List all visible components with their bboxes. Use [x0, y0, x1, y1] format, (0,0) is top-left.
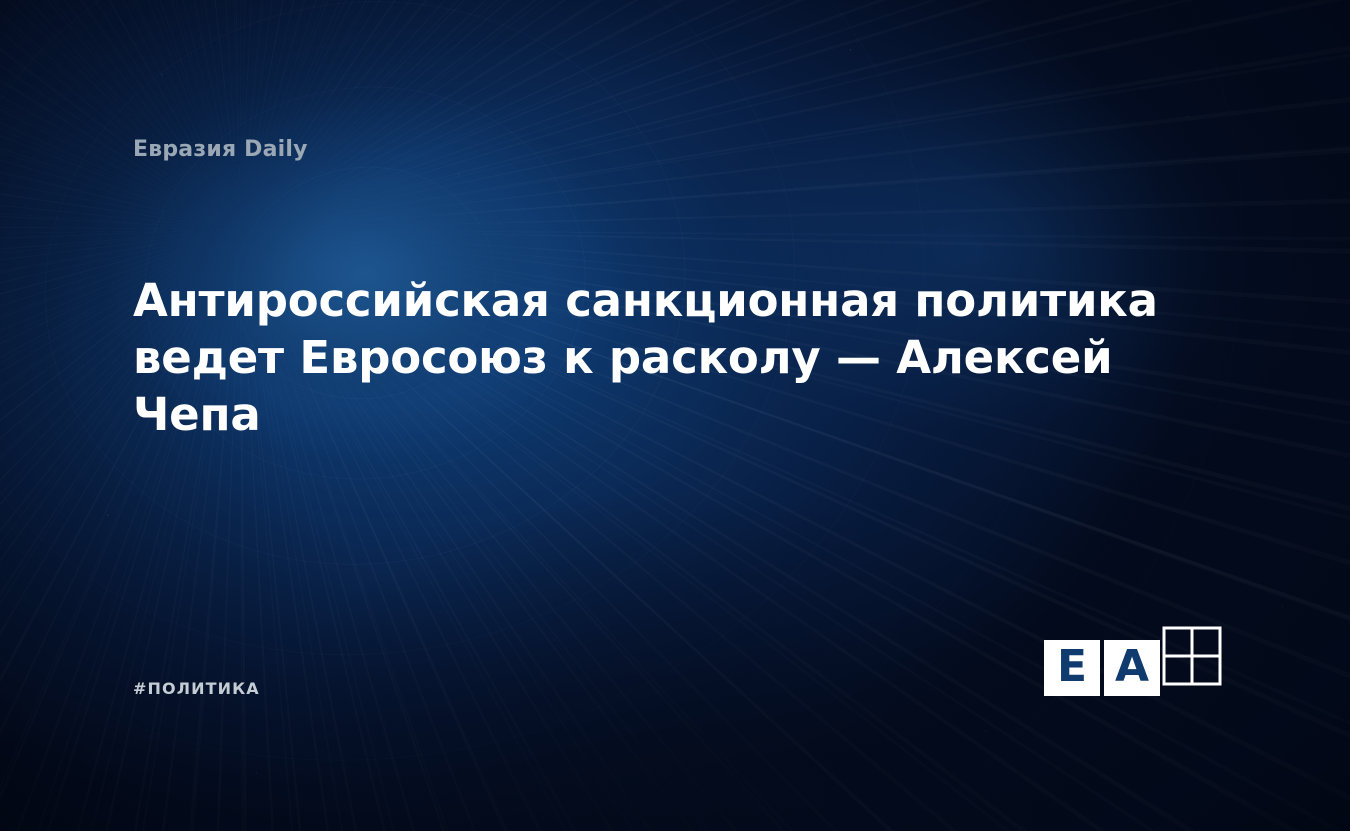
card-content: Евразия Daily Антироссийская санкционная…	[0, 0, 1350, 831]
ead-logo: E A D	[1042, 626, 1222, 704]
headline-title: Антироссийская санкционная политика веде…	[133, 272, 1223, 443]
category-tag: #ПОЛИТИКА	[133, 679, 260, 698]
news-cover-card: Евразия Daily Антироссийская санкционная…	[0, 0, 1350, 831]
svg-text:E: E	[1057, 641, 1087, 692]
brand-name: Евразия Daily	[133, 137, 308, 162]
svg-text:A: A	[1115, 641, 1149, 692]
